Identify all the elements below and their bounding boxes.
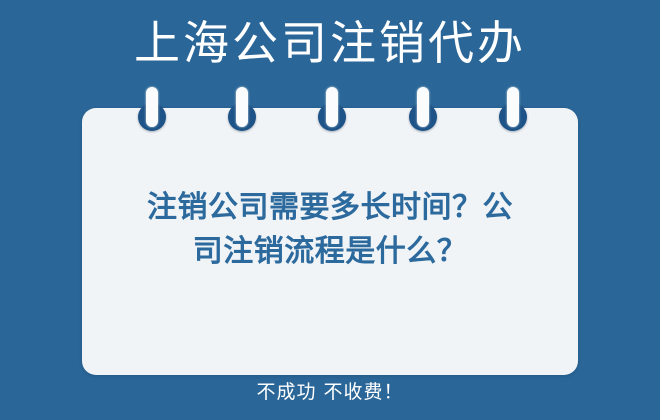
page-title: 上海公司注销代办	[134, 14, 526, 72]
headline-block: 注销公司需要多长时间？公 司注销流程是什么？	[100, 186, 560, 274]
notepad-card: 注销公司需要多长时间？公 司注销流程是什么？	[82, 108, 578, 375]
headline-line-1: 注销公司需要多长时间？公	[100, 186, 560, 230]
poster-title-bar: 上海公司注销代办	[0, 14, 660, 72]
footer-slogan: 不成功 不收费！	[0, 379, 660, 405]
headline-line-2: 司注销流程是什么？	[100, 230, 560, 274]
poster-canvas: 上海公司注销代办 注销公司需要多长时间？公 司注销流程是什么？ 不成功 不收	[0, 0, 660, 420]
